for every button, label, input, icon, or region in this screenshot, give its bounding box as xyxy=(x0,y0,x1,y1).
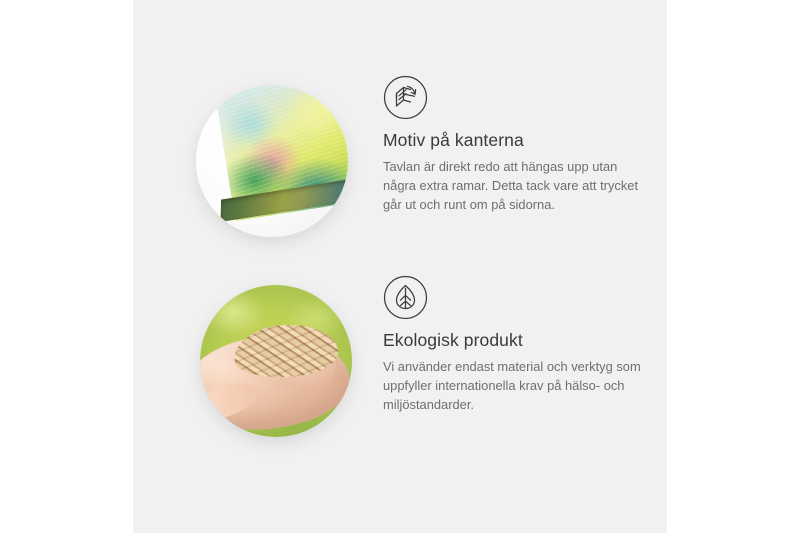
letterbox-right xyxy=(667,0,800,533)
feature-text-column: Motiv på kanterna Tavlan är direkt redo … xyxy=(383,75,658,215)
wood-chips-pile xyxy=(232,321,339,380)
feature-description: Tavlan är direkt redo att hängas upp uta… xyxy=(383,158,645,215)
feature-title: Ekologisk produkt xyxy=(383,330,658,351)
canvas-wrapped-edges-icon xyxy=(383,75,428,120)
feature-description: Vi använder endast material och verktyg … xyxy=(383,358,645,415)
feature-block-canvas-edges: Motiv på kanterna Tavlan är direkt redo … xyxy=(133,75,667,250)
hands-with-wood-chips-photo xyxy=(200,285,352,437)
feature-block-eco-product: Ekologisk produkt Vi använder endast mat… xyxy=(133,275,667,450)
thumb xyxy=(200,376,262,427)
canvas-print-corner-photo xyxy=(196,85,348,237)
letterbox-left xyxy=(0,0,133,533)
feature-text-column: Ekologisk produkt Vi använder endast mat… xyxy=(383,275,658,415)
leaf-icon xyxy=(383,275,428,320)
product-feature-infographic: Motiv på kanterna Tavlan är direkt redo … xyxy=(0,0,800,533)
canvas-scene xyxy=(196,85,348,237)
feature-title: Motiv på kanterna xyxy=(383,130,658,151)
grass-background xyxy=(200,285,352,437)
